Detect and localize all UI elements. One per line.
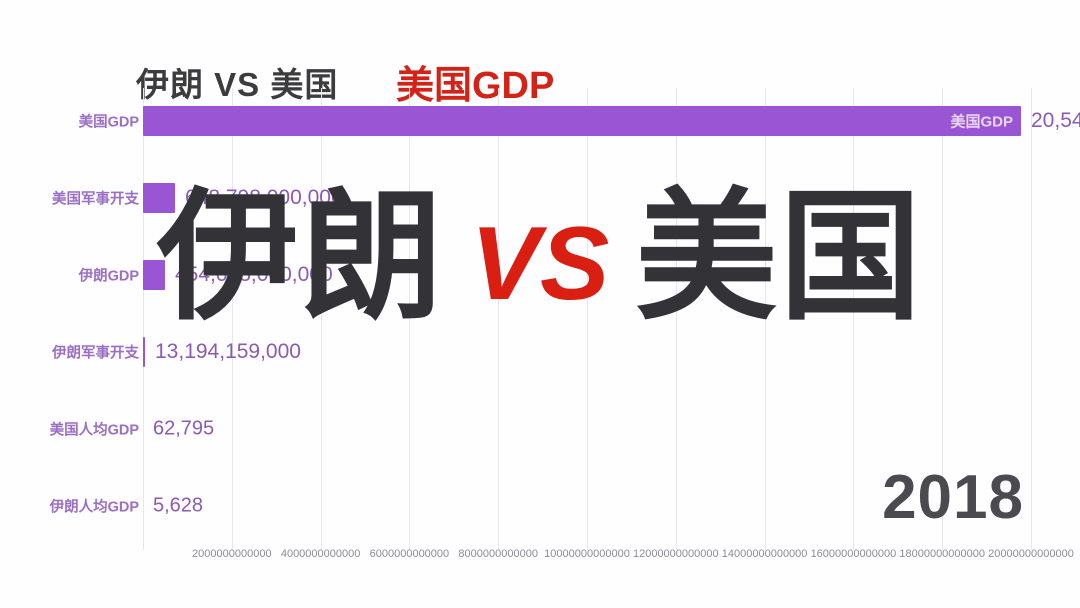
bar-value-label: 5,628 (153, 495, 203, 518)
bar-value-label: 20,544,343,000,000 (1031, 109, 1080, 133)
bar[interactable] (143, 337, 145, 367)
bar-row-label: 美国GDP (79, 111, 139, 132)
x-axis-tick-label: 16000000000000 (811, 548, 897, 560)
bar-row[interactable]: 美国军事开支648,798,000,000 (0, 165, 1080, 231)
x-axis-tick-label: 6000000000000 (370, 548, 450, 560)
bar-row[interactable]: 美国GDP美国GDP20,544,343,000,000 (0, 88, 1080, 154)
bar-row-label: 伊朗军事开支 (52, 342, 139, 363)
x-axis-tick-label: 14000000000000 (722, 548, 808, 560)
bar-row[interactable]: 伊朗军事开支13,194,159,000 (0, 319, 1080, 385)
year-label: 2018 (882, 462, 1024, 533)
x-axis-tick-label: 2000000000000 (192, 548, 272, 560)
bar-value-label: 454,013,000,000 (175, 263, 333, 287)
bar-value-label: 13,194,159,000 (155, 340, 301, 364)
bar-value-label: 648,798,000,000 (185, 186, 343, 210)
x-axis-tick-label: 8000000000000 (458, 548, 538, 560)
x-axis-tick-label: 20000000000000 (988, 548, 1074, 560)
bar-row[interactable]: 伊朗GDP454,013,000,000 (0, 242, 1080, 308)
bar[interactable] (143, 260, 165, 290)
bar-row-label: 美国人均GDP (50, 419, 139, 440)
x-axis-tick-label: 12000000000000 (633, 548, 719, 560)
x-axis-tick-label: 4000000000000 (281, 548, 361, 560)
chart-canvas: 伊朗 VS 美国 美国GDP 美国GDP美国GDP20,544,343,000,… (0, 0, 1080, 608)
chart-header: 伊朗 VS 美国 美国GDP (0, 28, 1080, 84)
bar[interactable] (143, 183, 175, 213)
bar-row-label: 伊朗人均GDP (50, 496, 139, 517)
bar-inner-label: 美国GDP (950, 111, 1013, 132)
x-axis-tick-label: 10000000000000 (544, 548, 630, 560)
bar-row-label: 美国军事开支 (52, 188, 139, 209)
bar-row-label: 伊朗GDP (79, 265, 139, 286)
bar-row[interactable]: 美国人均GDP62,795 (0, 396, 1080, 462)
bar[interactable]: 美国GDP (143, 106, 1021, 136)
x-axis: 2000000000000400000000000060000000000008… (0, 548, 1080, 570)
x-axis-tick-label: 18000000000000 (899, 548, 985, 560)
bar-value-label: 62,795 (153, 418, 214, 441)
